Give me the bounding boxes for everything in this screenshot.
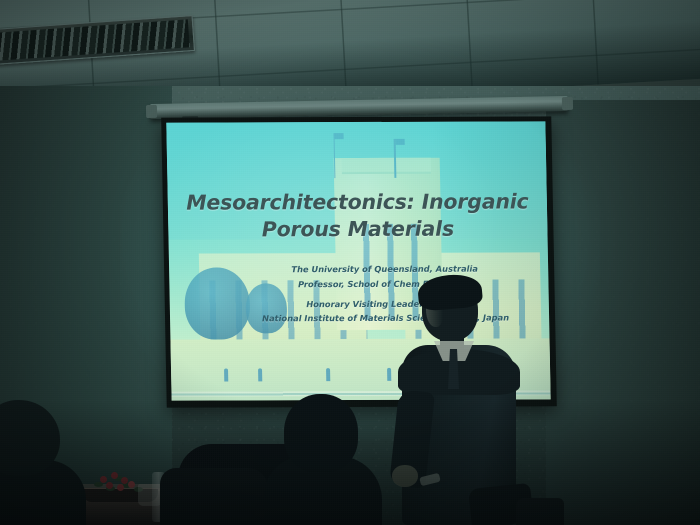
photo-scene: Mesoarchitectonics: Inorganic Porous Mat… bbox=[0, 0, 700, 525]
roller-end-cap-left bbox=[146, 105, 157, 118]
affiliation-line-4: National Institute of Materials Science … bbox=[222, 311, 549, 326]
slide-affiliation-block-2: Honorary Visiting Leader & MANA National… bbox=[170, 296, 550, 326]
audience-center-head bbox=[284, 394, 358, 472]
audience-person-center bbox=[262, 394, 378, 525]
affiliation-line-2: Professor, School of Chem Eng / AIBN bbox=[221, 276, 548, 291]
wall-right-shadow bbox=[546, 100, 700, 525]
shoulder-bag bbox=[160, 468, 268, 525]
audience-person-left bbox=[0, 400, 90, 525]
projection-screen: Mesoarchitectonics: Inorganic Porous Mat… bbox=[161, 116, 557, 407]
chair-secondary bbox=[516, 498, 564, 525]
roller-end-cap-right bbox=[562, 97, 573, 110]
slide-title-line-2: Porous Materials bbox=[182, 215, 534, 243]
affiliation-line-3: Honorary Visiting Leader & MANA bbox=[222, 296, 549, 311]
slide-title: Mesoarchitectonics: Inorganic Porous Mat… bbox=[168, 188, 548, 243]
slide-title-line-1: Mesoarchitectonics: Inorganic bbox=[182, 188, 534, 216]
slide-text-layer: Mesoarchitectonics: Inorganic Porous Mat… bbox=[166, 121, 550, 400]
slide-affiliation-block-1: The University of Queensland, Australia … bbox=[169, 262, 549, 292]
presentation-slide: Mesoarchitectonics: Inorganic Porous Mat… bbox=[166, 121, 550, 400]
affiliation-line-1: The University of Queensland, Australia bbox=[221, 262, 548, 277]
